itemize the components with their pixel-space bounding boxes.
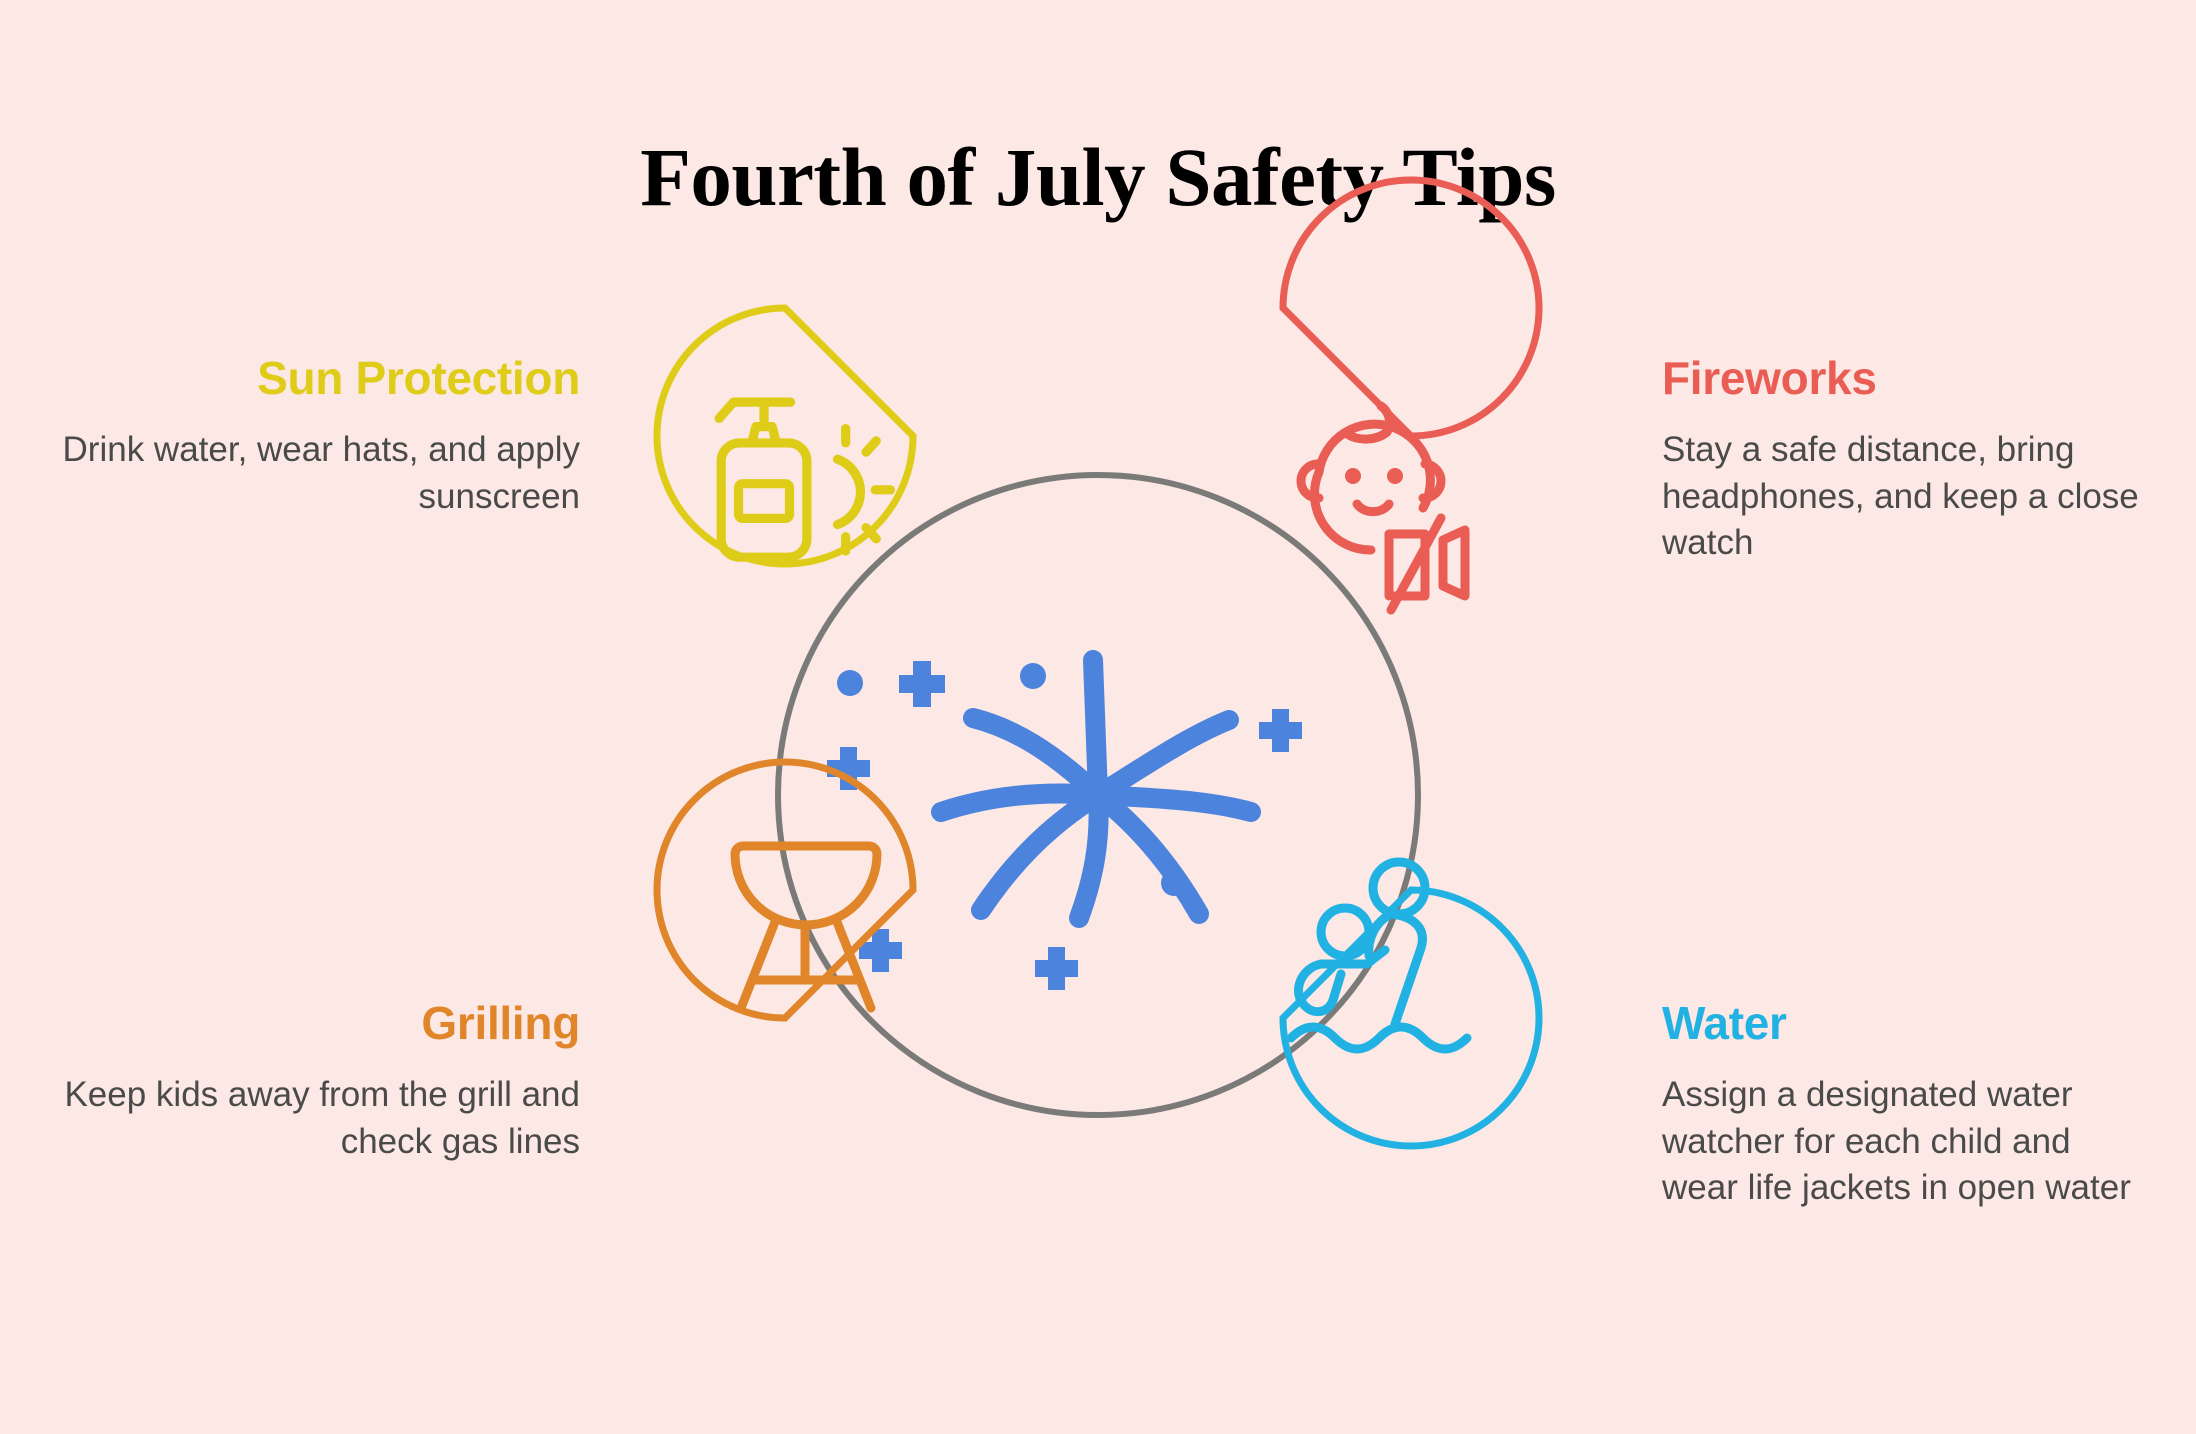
fireworks-burst-icon [941, 660, 1251, 918]
bbq-grill-icon [735, 846, 877, 1008]
tip-heading-water: Water [1662, 1000, 2152, 1046]
tip-heading-sun-protection: Sun Protection [60, 355, 580, 401]
page-title: Fourth of July Safety Tips [0, 136, 2196, 219]
tip-heading-grilling: Grilling [60, 1000, 580, 1046]
badge-water[interactable] [1283, 862, 1539, 1146]
safety-wheel-diagram [623, 320, 1573, 1270]
badge-outline-grilling [785, 1024, 913, 1280]
badge-shape-sun-protection [623, 190, 763, 470]
badge-sun-protection[interactable] [623, 190, 913, 564]
baby-face-muted-speaker-icon [1301, 406, 1465, 610]
tip-fireworks: Fireworks Stay a safe distance, bring he… [1662, 355, 2162, 567]
badge-fireworks[interactable] [1283, 180, 1539, 692]
infographic-canvas: Fourth of July Safety Tips [0, 0, 2196, 1434]
tip-body-grilling: Keep kids away from the grill and check … [60, 1072, 580, 1165]
tip-body-fireworks: Stay a safe distance, bring headphones, … [1662, 427, 2162, 567]
tip-body-water: Assign a designated water watcher for ea… [1662, 1072, 2152, 1212]
tip-sun-protection: Sun Protection Drink water, wear hats, a… [60, 355, 580, 520]
tip-water: Water Assign a designated water watcher … [1662, 1000, 2152, 1212]
tip-heading-fireworks: Fireworks [1662, 355, 2162, 401]
tip-body-sun-protection: Drink water, wear hats, and apply sunscr… [60, 427, 580, 520]
tip-grilling: Grilling Keep kids away from the grill a… [60, 1000, 580, 1165]
badge-outline-sun [657, 308, 913, 564]
